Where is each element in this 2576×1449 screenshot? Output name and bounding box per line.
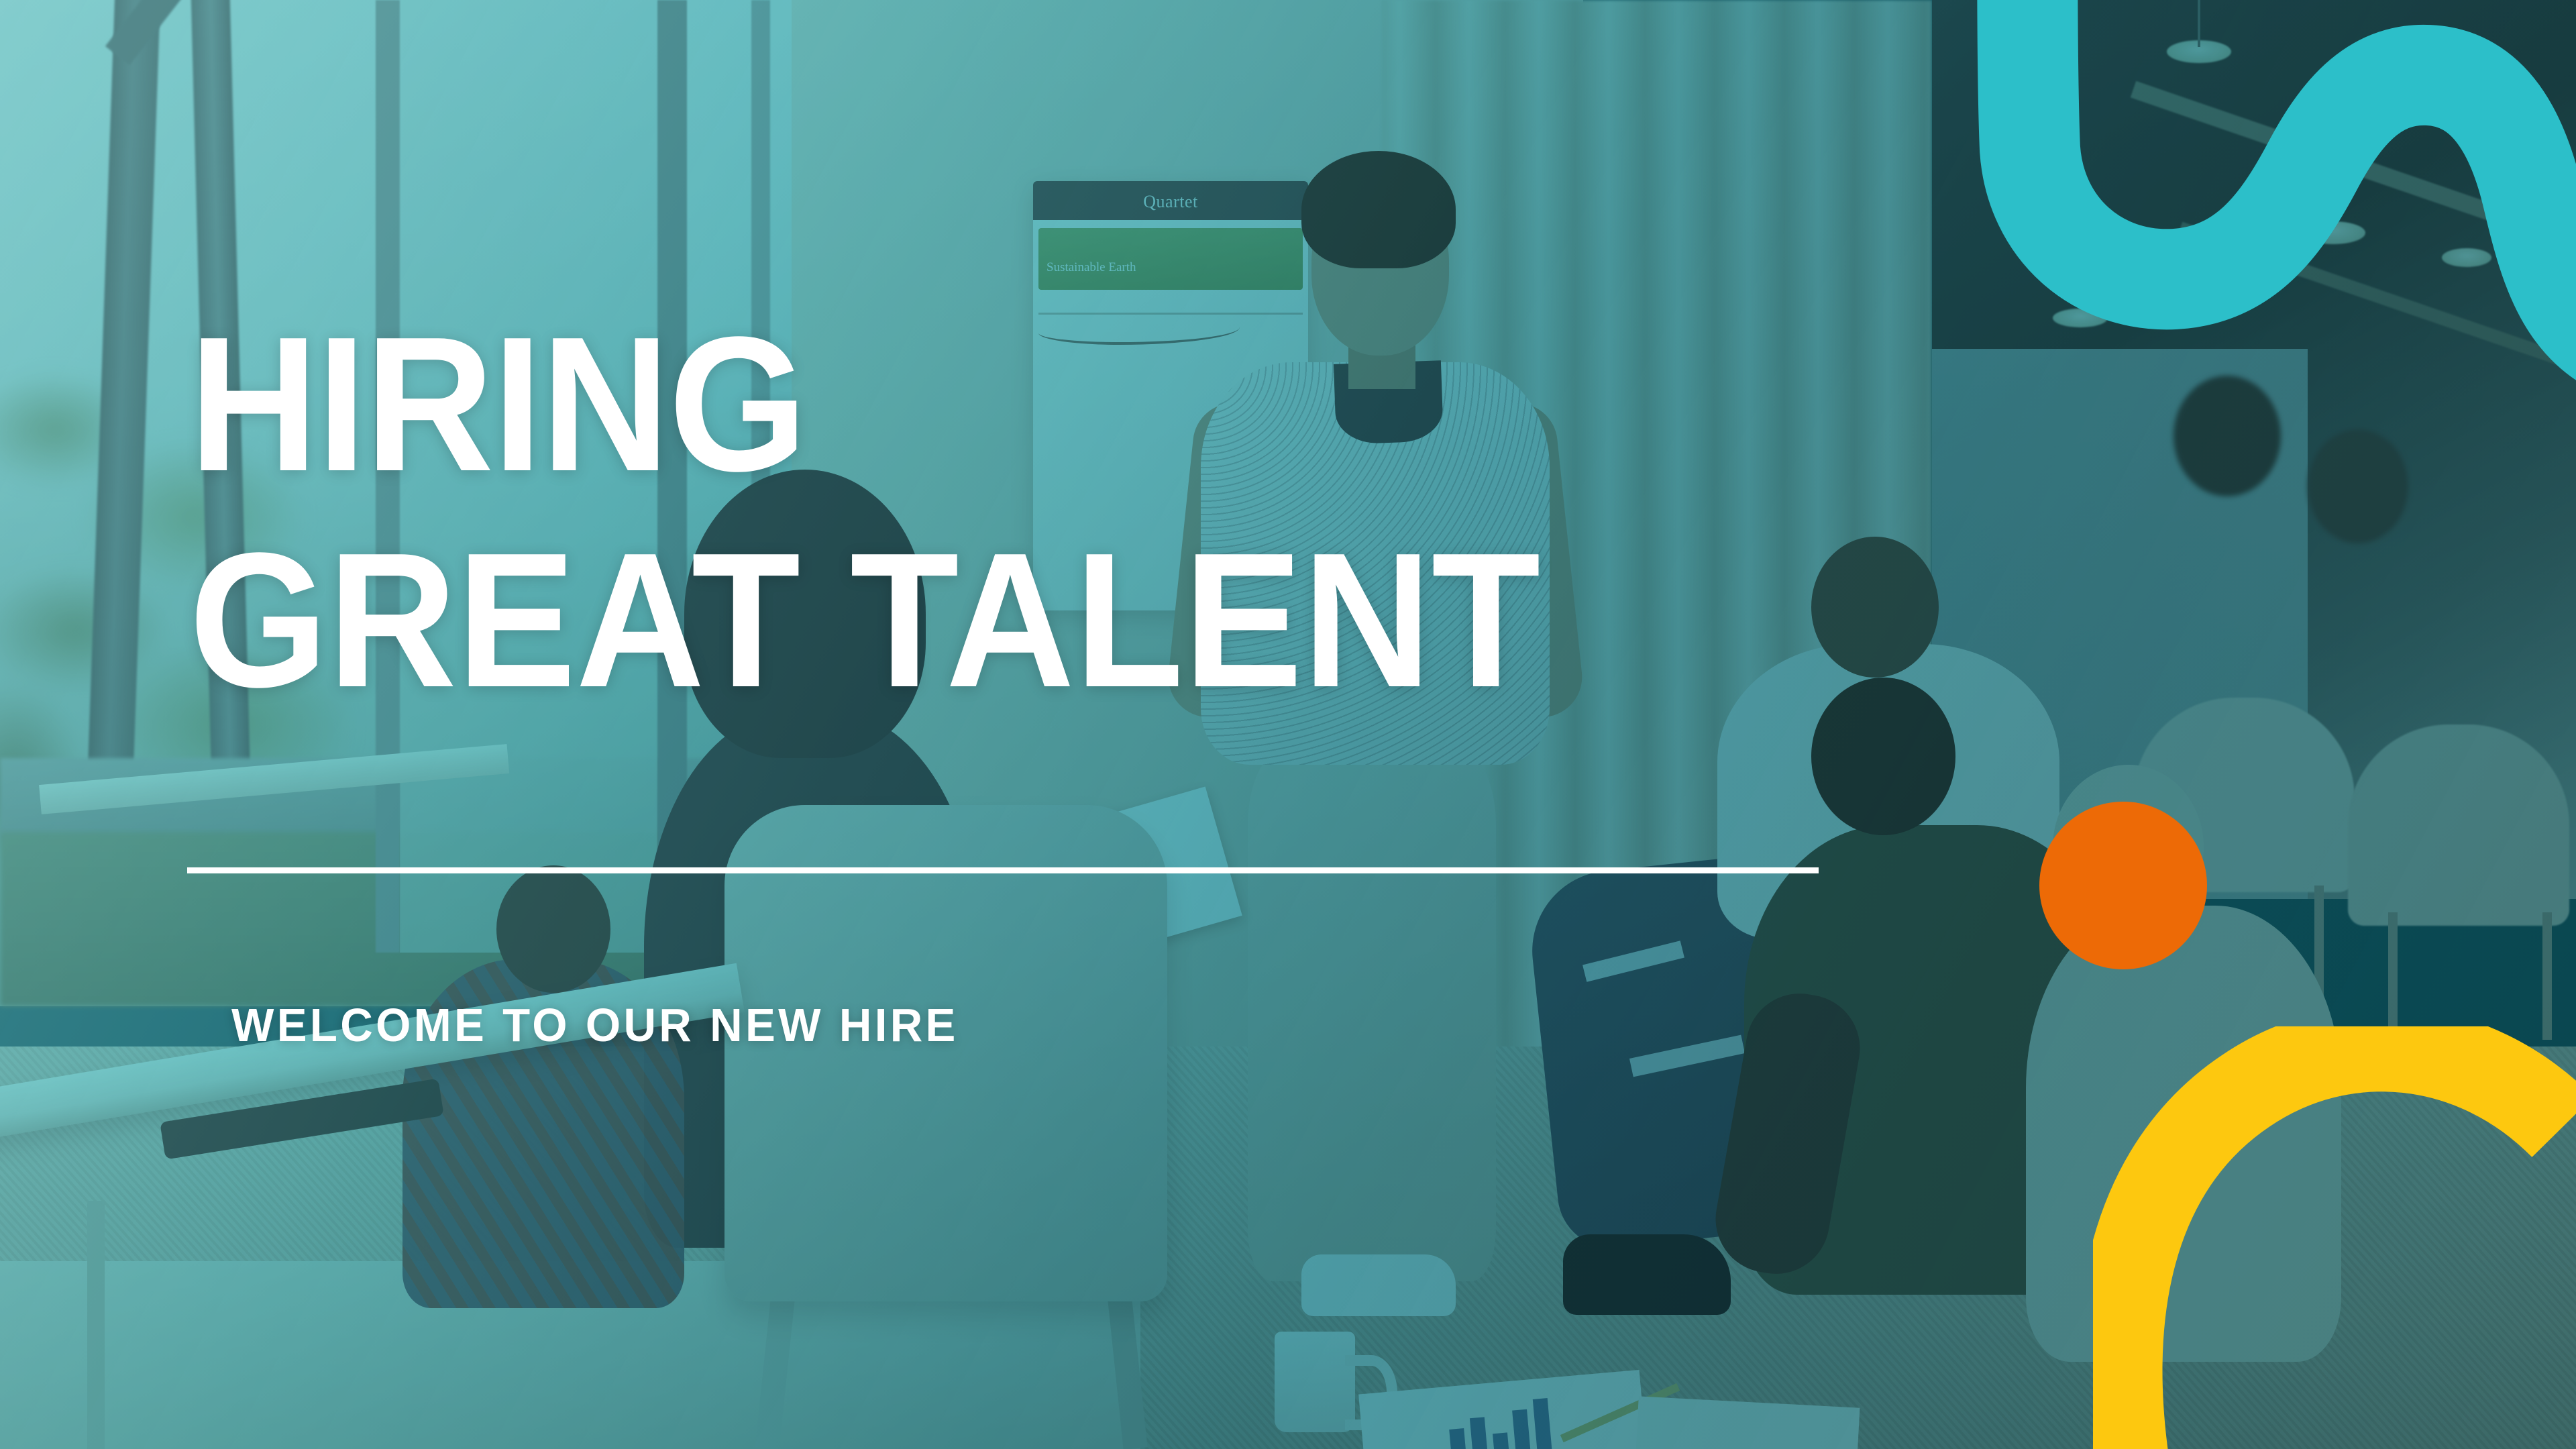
headline-line-1: HIRING: [189, 314, 806, 494]
banner-content: HIRING GREAT TALENT WELCOME TO OUR NEW H…: [0, 0, 2576, 1449]
headline-divider-rule: [187, 867, 1819, 873]
headline-line-2: GREAT TALENT: [189, 530, 1540, 710]
hiring-banner: Quartet Sustainable Earth: [0, 0, 2576, 1449]
subheadline: WELCOME TO OUR NEW HIRE: [231, 998, 959, 1052]
